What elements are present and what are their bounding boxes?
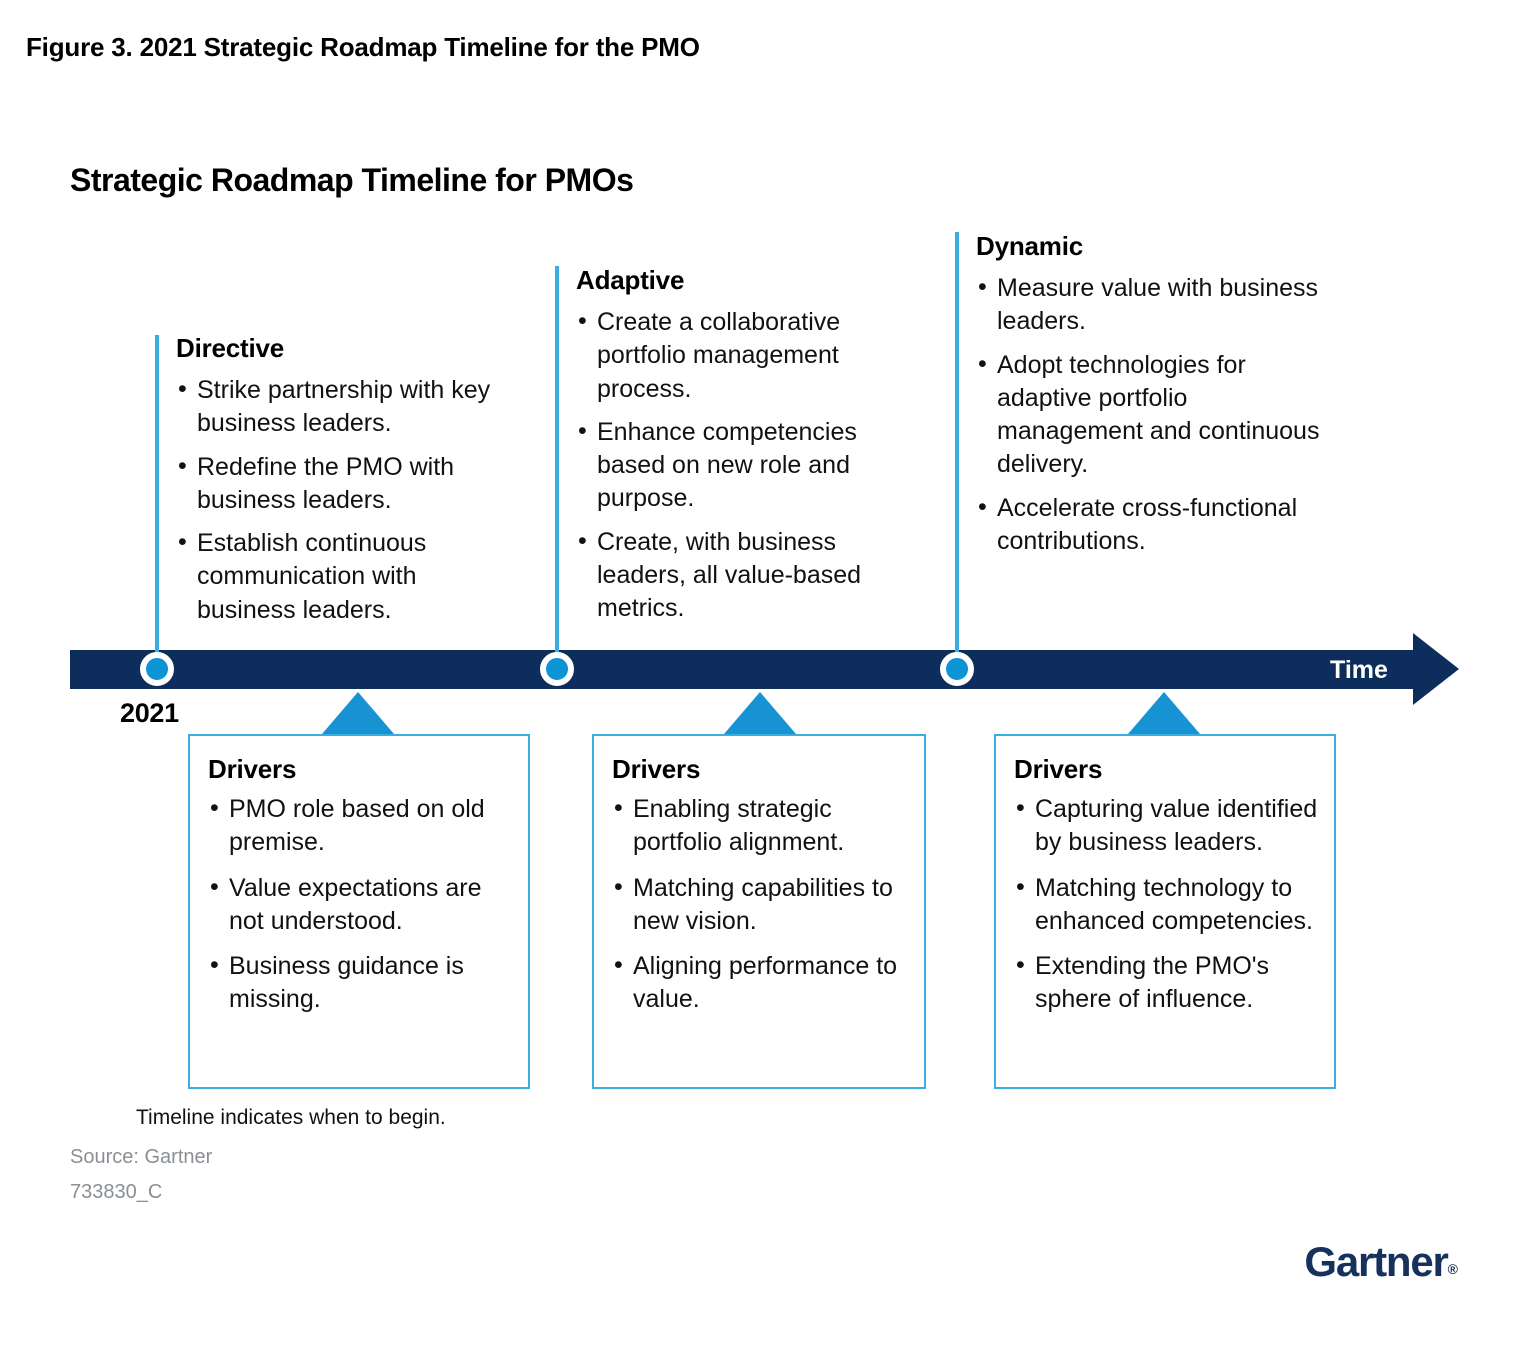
- timeline-axis-label: Time: [1330, 656, 1388, 685]
- milestone-marker-adaptive[interactable]: [540, 652, 574, 686]
- milestone-marker-dynamic[interactable]: [940, 652, 974, 686]
- registered-mark-icon: ®: [1448, 1261, 1458, 1277]
- list-item: Create a collaborative portfolio managem…: [576, 306, 921, 406]
- list-item: Business guidance is missing.: [208, 950, 514, 1017]
- drivers-box-adaptive: Drivers Enabling strategic portfolio ali…: [592, 734, 926, 1089]
- gartner-logo-text: Gartner: [1304, 1238, 1447, 1285]
- list-item: Enhance competencies based on new role a…: [576, 416, 921, 516]
- timeline-bar: [70, 650, 1415, 689]
- source-label: Source: Gartner: [70, 1146, 212, 1169]
- list-item: Measure value with business leaders.: [976, 272, 1336, 339]
- milestone-block-adaptive: Adaptive Create a collaborative portfoli…: [576, 265, 921, 635]
- milestone-actions-dynamic: Measure value with business leaders. Ado…: [976, 272, 1336, 558]
- drivers-pointer-adaptive: [724, 692, 796, 734]
- list-item: Matching capabilities to new vision.: [612, 872, 910, 939]
- milestone-connector-adaptive: [555, 266, 559, 655]
- list-item: Aligning performance to value.: [612, 950, 910, 1017]
- list-item: Strike partnership with key business lea…: [176, 374, 516, 441]
- milestone-marker-directive[interactable]: [140, 652, 174, 686]
- milestone-connector-dynamic: [955, 232, 959, 655]
- drivers-heading: Drivers: [612, 754, 924, 785]
- figure-caption: Figure 3. 2021 Strategic Roadmap Timelin…: [26, 32, 700, 63]
- milestone-block-dynamic: Dynamic Measure value with business lead…: [976, 231, 1336, 568]
- list-item: Accelerate cross-functional contribution…: [976, 492, 1336, 559]
- milestone-heading-adaptive: Adaptive: [576, 265, 921, 296]
- chart-title: Strategic Roadmap Timeline for PMOs: [70, 162, 633, 199]
- drivers-list-dynamic: Capturing value identified by business l…: [1014, 793, 1320, 1017]
- drivers-heading: Drivers: [1014, 754, 1334, 785]
- milestone-block-directive: Directive Strike partnership with key bu…: [176, 333, 516, 637]
- list-item: Adopt technologies for adaptive portfoli…: [976, 349, 1336, 482]
- gartner-logo: Gartner®: [1304, 1238, 1458, 1286]
- drivers-pointer-directive: [322, 692, 394, 734]
- timeline-footnote: Timeline indicates when to begin.: [136, 1106, 446, 1130]
- list-item: Extending the PMO's sphere of influence.: [1014, 950, 1320, 1017]
- milestone-actions-directive: Strike partnership with key business lea…: [176, 374, 516, 627]
- list-item: Enabling strategic portfolio alignment.: [612, 793, 910, 860]
- milestone-connector-directive: [155, 335, 159, 655]
- timeline-start-year: 2021: [120, 698, 179, 729]
- list-item: Value expectations are not understood.: [208, 872, 514, 939]
- drivers-heading: Drivers: [208, 754, 528, 785]
- drivers-box-directive: Drivers PMO role based on old premise. V…: [188, 734, 530, 1089]
- drivers-list-directive: PMO role based on old premise. Value exp…: [208, 793, 514, 1017]
- document-id: 733830_C: [70, 1181, 162, 1204]
- timeline-arrow-icon: [1413, 633, 1459, 705]
- list-item: Capturing value identified by business l…: [1014, 793, 1320, 860]
- drivers-box-dynamic: Drivers Capturing value identified by bu…: [994, 734, 1336, 1089]
- list-item: Create, with business leaders, all value…: [576, 526, 921, 626]
- list-item: Matching technology to enhanced competen…: [1014, 872, 1320, 939]
- list-item: PMO role based on old premise.: [208, 793, 514, 860]
- list-item: Establish continuous communication with …: [176, 527, 516, 627]
- drivers-pointer-dynamic: [1128, 692, 1200, 734]
- list-item: Redefine the PMO with business leaders.: [176, 451, 516, 518]
- milestone-heading-directive: Directive: [176, 333, 516, 364]
- milestone-actions-adaptive: Create a collaborative portfolio managem…: [576, 306, 921, 625]
- milestone-heading-dynamic: Dynamic: [976, 231, 1336, 262]
- drivers-list-adaptive: Enabling strategic portfolio alignment. …: [612, 793, 910, 1017]
